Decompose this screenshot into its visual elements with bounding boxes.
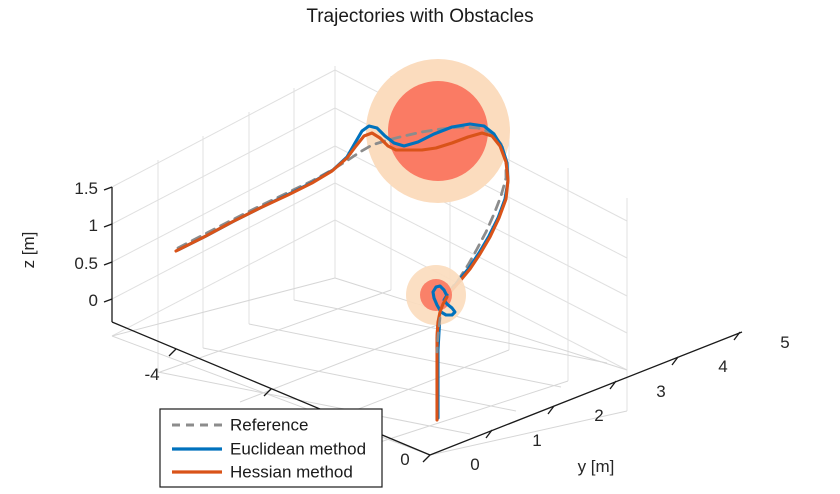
y-tick-label: 0 bbox=[470, 455, 479, 474]
z-axis-label: z [m] bbox=[19, 232, 38, 269]
z-tick-label: 1.5 bbox=[74, 179, 98, 198]
y-axis-label: y [m] bbox=[578, 457, 615, 476]
y-tick-label: 3 bbox=[656, 382, 665, 401]
y-tick-label: 4 bbox=[718, 357, 727, 376]
y-tick-labels: 0 1 2 3 4 5 bbox=[470, 333, 789, 474]
z-tick-label: 0.5 bbox=[74, 254, 98, 273]
legend-label-euclidean: Euclidean method bbox=[230, 439, 366, 458]
legend-label-hessian: Hessian method bbox=[230, 462, 353, 481]
page-title: Trajectories with Obstacles bbox=[306, 6, 533, 27]
z-tick-label: 0 bbox=[89, 291, 98, 310]
z-tick-label: 1 bbox=[89, 216, 98, 235]
obstacle-small bbox=[406, 265, 466, 325]
legend[interactable]: Reference Euclidean method Hessian metho… bbox=[160, 409, 382, 487]
z-tick-labels: 1.5 1 0.5 0 bbox=[74, 179, 98, 310]
legend-label-reference: Reference bbox=[230, 415, 308, 434]
x-origin-tick-label: 0 bbox=[400, 450, 409, 469]
x-tick-label: -4 bbox=[144, 365, 159, 384]
z-axis-ticks bbox=[104, 187, 112, 302]
y-tick-label: 5 bbox=[780, 333, 789, 352]
y-tick-label: 1 bbox=[532, 431, 541, 450]
y-tick-label: 2 bbox=[594, 406, 603, 425]
figure-canvas: 1.5 1 0.5 0 z [m] -4 0 0 1 2 3 4 5 y [m]… bbox=[0, 0, 840, 494]
